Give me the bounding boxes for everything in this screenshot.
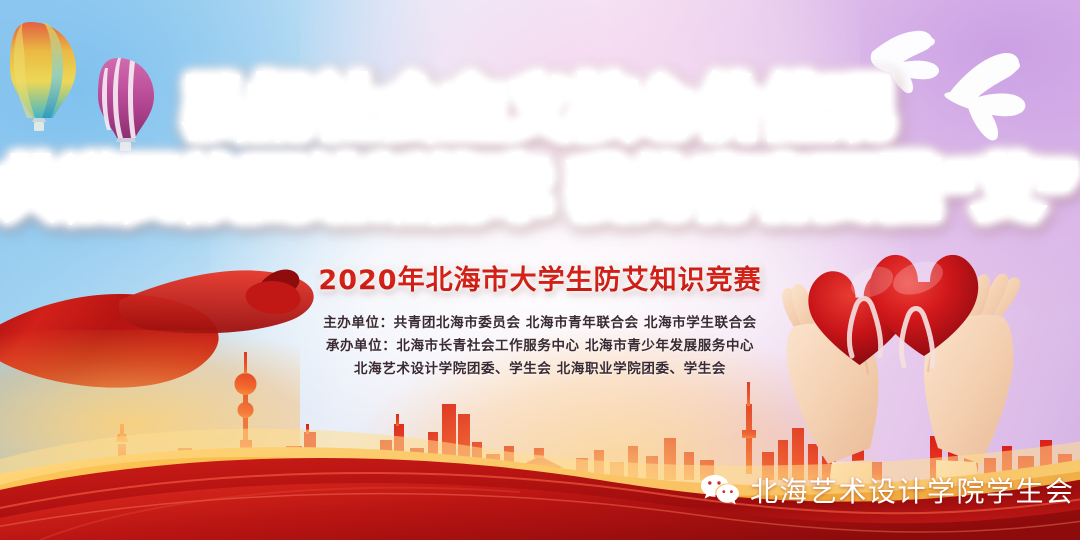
wechat-icon <box>700 473 740 507</box>
organizer-line-host: 主办单位：共青团北海市委员会 北海市青年联合会 北海市学生联合会 <box>0 312 1080 335</box>
poster-banner: 弘扬社会主义核心价值观 共谱民族团结新篇章 我的青春要懂“艾” 2020年北海市… <box>0 0 1080 540</box>
event-subtitle: 2020年北海市大学生防艾知识竞赛 <box>0 258 1080 297</box>
wechat-account-name: 北海艺术设计学院学生会 <box>750 470 1075 510</box>
headline-line-2: 共谱民族团结新篇章 我的青春要懂“艾” <box>0 160 1080 220</box>
organizer-line-schools: 北海艺术设计学院团委、学生会 北海职业学院团委、学生会 <box>0 358 1080 381</box>
headline-line-1: 弘扬社会主义核心价值观 <box>0 78 1080 140</box>
wechat-watermark: 北海艺术设计学院学生会 <box>700 470 1075 510</box>
organizer-block: 主办单位：共青团北海市委员会 北海市青年联合会 北海市学生联合会 承办单位：北海… <box>0 312 1080 381</box>
organizer-line-co-host: 承办单位：北海市长青社会工作服务中心 北海市青少年发展服务中心 <box>0 335 1080 358</box>
